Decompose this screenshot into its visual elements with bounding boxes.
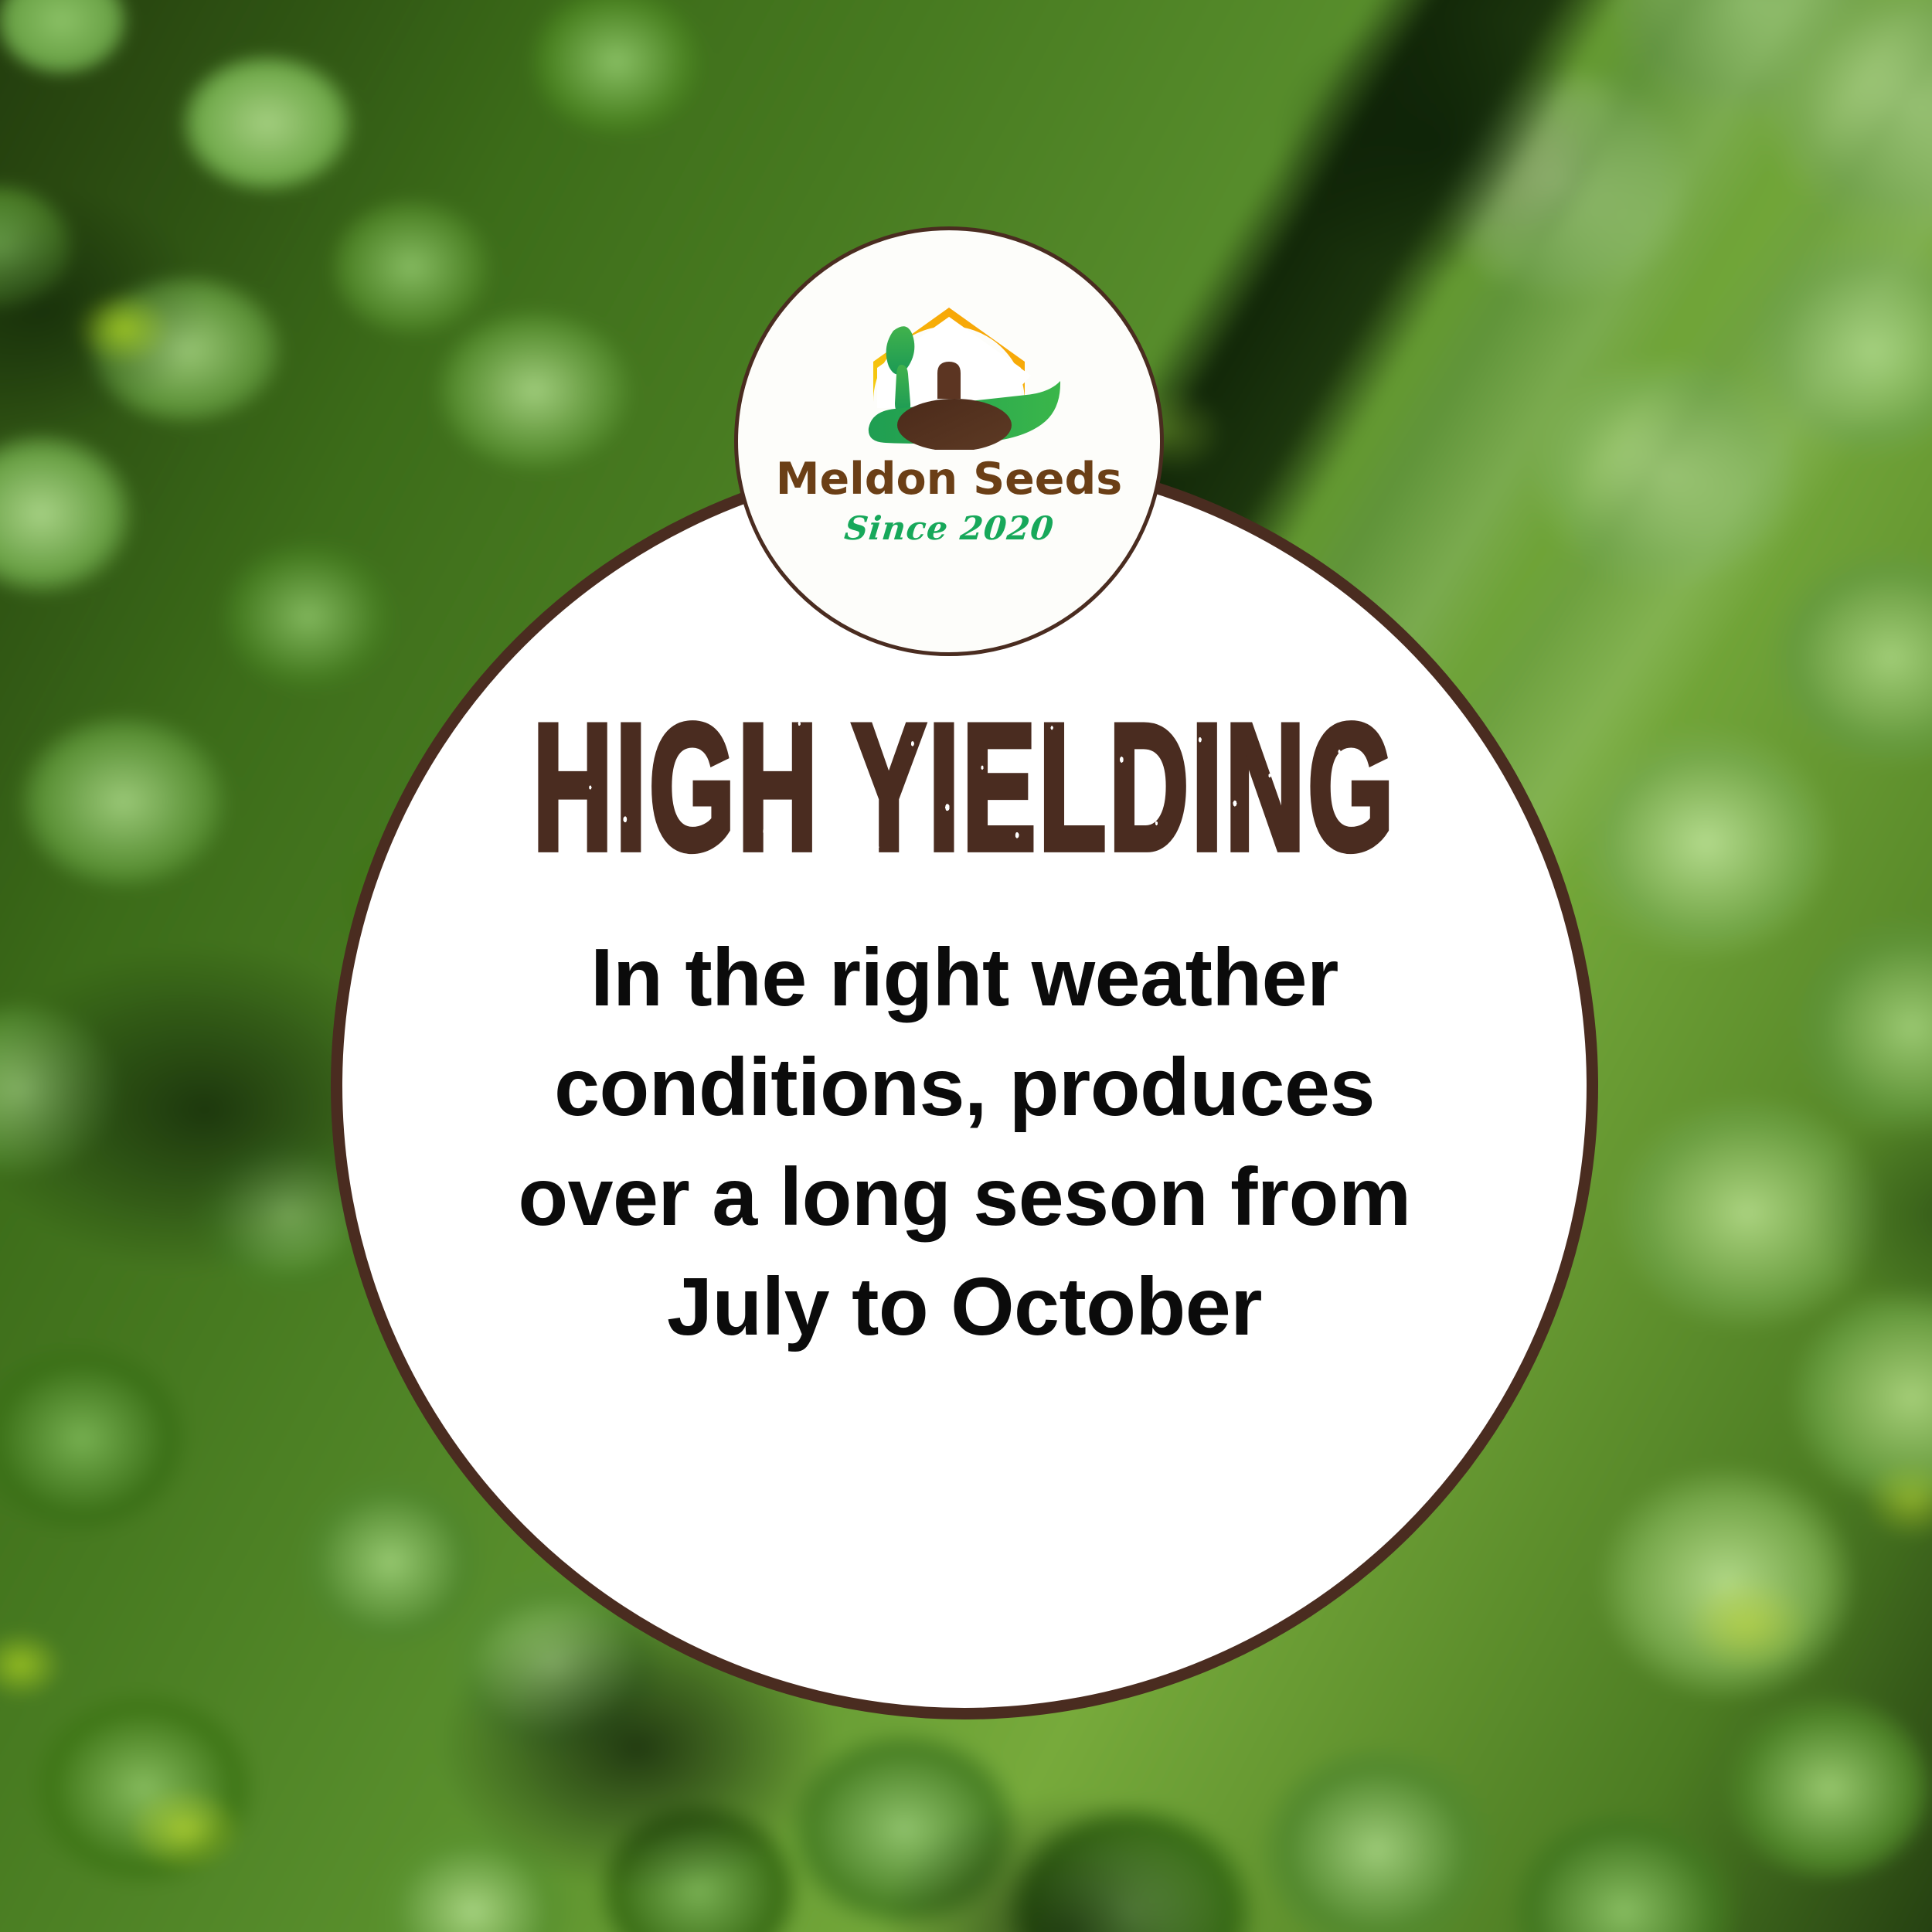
body-line-1: In the right weather <box>427 923 1502 1032</box>
body-line-2: conditions, produces <box>427 1032 1502 1142</box>
body-copy: In the right weather conditions, produce… <box>427 923 1502 1362</box>
body-line-3: over a long seson from <box>427 1142 1502 1252</box>
body-line-4: July to October <box>427 1252 1502 1362</box>
logo-badge: Meldon Seeds Since 2020 <box>734 226 1164 656</box>
headline-text: HIGH YIELDING <box>532 698 1396 876</box>
logo-tagline: Since 2020 <box>842 512 1055 545</box>
headline-container: HIGH YIELDING <box>342 719 1587 856</box>
logo-brand-name: Meldon Seeds <box>776 457 1122 502</box>
poster-canvas: HIGH YIELDING In the right weather condi… <box>0 0 1932 1932</box>
farmhouse-sprout-seed-logo-icon <box>833 284 1065 450</box>
